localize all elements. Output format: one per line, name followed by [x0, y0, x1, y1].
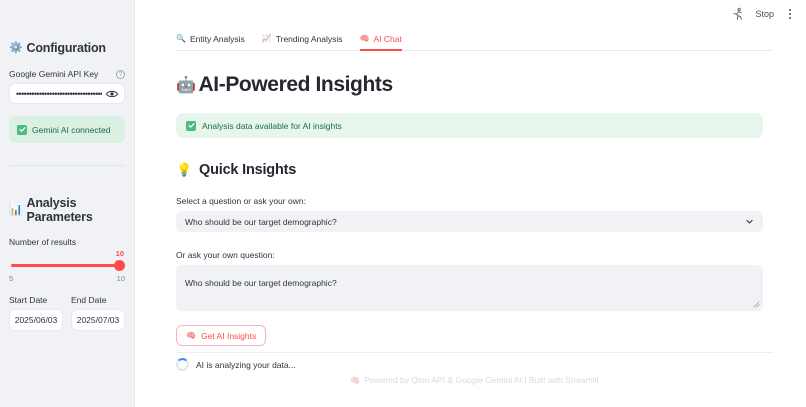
bar-chart-icon: 📊	[9, 205, 23, 216]
tab-bar: 🔍 Entity Analysis 📈 Trending Analysis 🧠 …	[176, 34, 773, 51]
page-title: 🤖 AI-Powered Insights	[176, 73, 773, 97]
sidebar-configuration-header: ⚙️ Configuration	[9, 41, 125, 55]
analysis-status-text: AI is analyzing your data...	[196, 360, 296, 370]
lightbulb-icon: 💡	[176, 162, 192, 178]
success-alert: Analysis data available for AI insights	[176, 113, 763, 138]
resize-handle-icon[interactable]	[753, 301, 760, 308]
tab-entity-analysis[interactable]: 🔍 Entity Analysis	[176, 34, 245, 50]
brain-icon: 🧠	[350, 376, 360, 385]
loading-spinner-icon	[176, 358, 189, 371]
question-textarea-value: Who should be our target demographic?	[185, 278, 337, 288]
search-icon: 🔍	[176, 35, 186, 43]
kebab-menu-icon[interactable]	[784, 7, 796, 21]
quick-insights-heading: 💡 Quick Insights	[176, 162, 773, 178]
tab-entity-analysis-label: Entity Analysis	[190, 34, 245, 44]
gemini-status-text: Gemini AI connected	[32, 125, 110, 135]
footer-divider	[176, 352, 773, 353]
results-slider-thumb[interactable]	[114, 260, 125, 271]
tab-ai-chat-label: AI Chat	[374, 34, 402, 44]
results-slider-track[interactable]	[11, 264, 120, 267]
results-slider-label: Number of results	[9, 237, 125, 247]
start-date-input[interactable]: 2025/06/03	[9, 309, 63, 331]
chevron-down-icon[interactable]	[745, 217, 754, 226]
footer: 🧠 Powered by Qloo API & Google Gemini AI…	[176, 375, 773, 385]
quick-insights-heading-text: Quick Insights	[199, 162, 296, 178]
api-key-input[interactable]: ••••••••••••••••••••••••••••••••••••••	[9, 83, 125, 104]
brain-icon: 🧠	[186, 331, 196, 340]
gear-icon: ⚙️	[9, 43, 23, 54]
check-square-icon	[186, 121, 196, 131]
app-root: ⚙️ Configuration Google Gemini API Key ?…	[0, 0, 806, 407]
robot-icon: 🤖	[176, 75, 196, 95]
sidebar-analysis-parameters-title: Analysis Parameters	[27, 196, 126, 224]
results-slider[interactable]: 10	[9, 249, 125, 278]
tab-ai-chat[interactable]: 🧠 AI Chat	[360, 34, 402, 50]
chart-up-icon: 📈	[262, 35, 272, 43]
page-title-text: AI-Powered Insights	[199, 73, 393, 97]
api-key-value: ••••••••••••••••••••••••••••••••••••••	[16, 89, 102, 99]
date-range-row: Start Date 2025/06/03 End Date 2025/07/0…	[9, 295, 125, 331]
end-date-input[interactable]: 2025/07/03	[71, 309, 125, 331]
page-content: 🔍 Entity Analysis 📈 Trending Analysis 🧠 …	[176, 0, 773, 371]
gemini-status-badge: Gemini AI connected	[9, 116, 125, 143]
footer-text: Powered by Qloo API & Google Gemini AI |…	[364, 375, 599, 385]
question-select-value: Who should be our target demographic?	[185, 217, 745, 227]
question-textarea[interactable]: Who should be our target demographic?	[176, 265, 763, 311]
results-slider-value: 10	[116, 249, 124, 258]
get-ai-insights-button[interactable]: 🧠 Get AI Insights	[176, 325, 266, 346]
eye-icon[interactable]	[106, 89, 118, 99]
sidebar-configuration-title: Configuration	[27, 41, 106, 55]
check-square-icon	[17, 125, 27, 135]
question-select[interactable]: Who should be our target demographic?	[176, 211, 763, 232]
question-textarea-label: Or ask your own question:	[176, 250, 773, 260]
brain-icon: 🧠	[360, 35, 370, 43]
api-key-label-row: Google Gemini API Key ?	[9, 69, 125, 79]
success-alert-text: Analysis data available for AI insights	[202, 121, 342, 131]
main-content: Stop 🔍 Entity Analysis 📈 Trending Analys…	[135, 0, 806, 407]
api-key-label: Google Gemini API Key	[9, 69, 98, 79]
analysis-status: AI is analyzing your data...	[176, 358, 773, 371]
sidebar-analysis-parameters-header: 📊 Analysis Parameters	[9, 196, 125, 224]
question-select-label: Select a question or ask your own:	[176, 196, 773, 206]
sidebar-divider	[9, 165, 125, 166]
help-circle-icon[interactable]: ?	[116, 70, 125, 79]
sidebar: ⚙️ Configuration Google Gemini API Key ?…	[0, 0, 135, 407]
end-date-label: End Date	[71, 295, 125, 305]
tab-trending-analysis[interactable]: 📈 Trending Analysis	[262, 34, 343, 50]
get-ai-insights-label: Get AI Insights	[201, 331, 256, 341]
start-date-label: Start Date	[9, 295, 63, 305]
start-date-field: Start Date 2025/06/03	[9, 295, 63, 331]
tab-trending-analysis-label: Trending Analysis	[276, 34, 343, 44]
end-date-field: End Date 2025/07/03	[71, 295, 125, 331]
